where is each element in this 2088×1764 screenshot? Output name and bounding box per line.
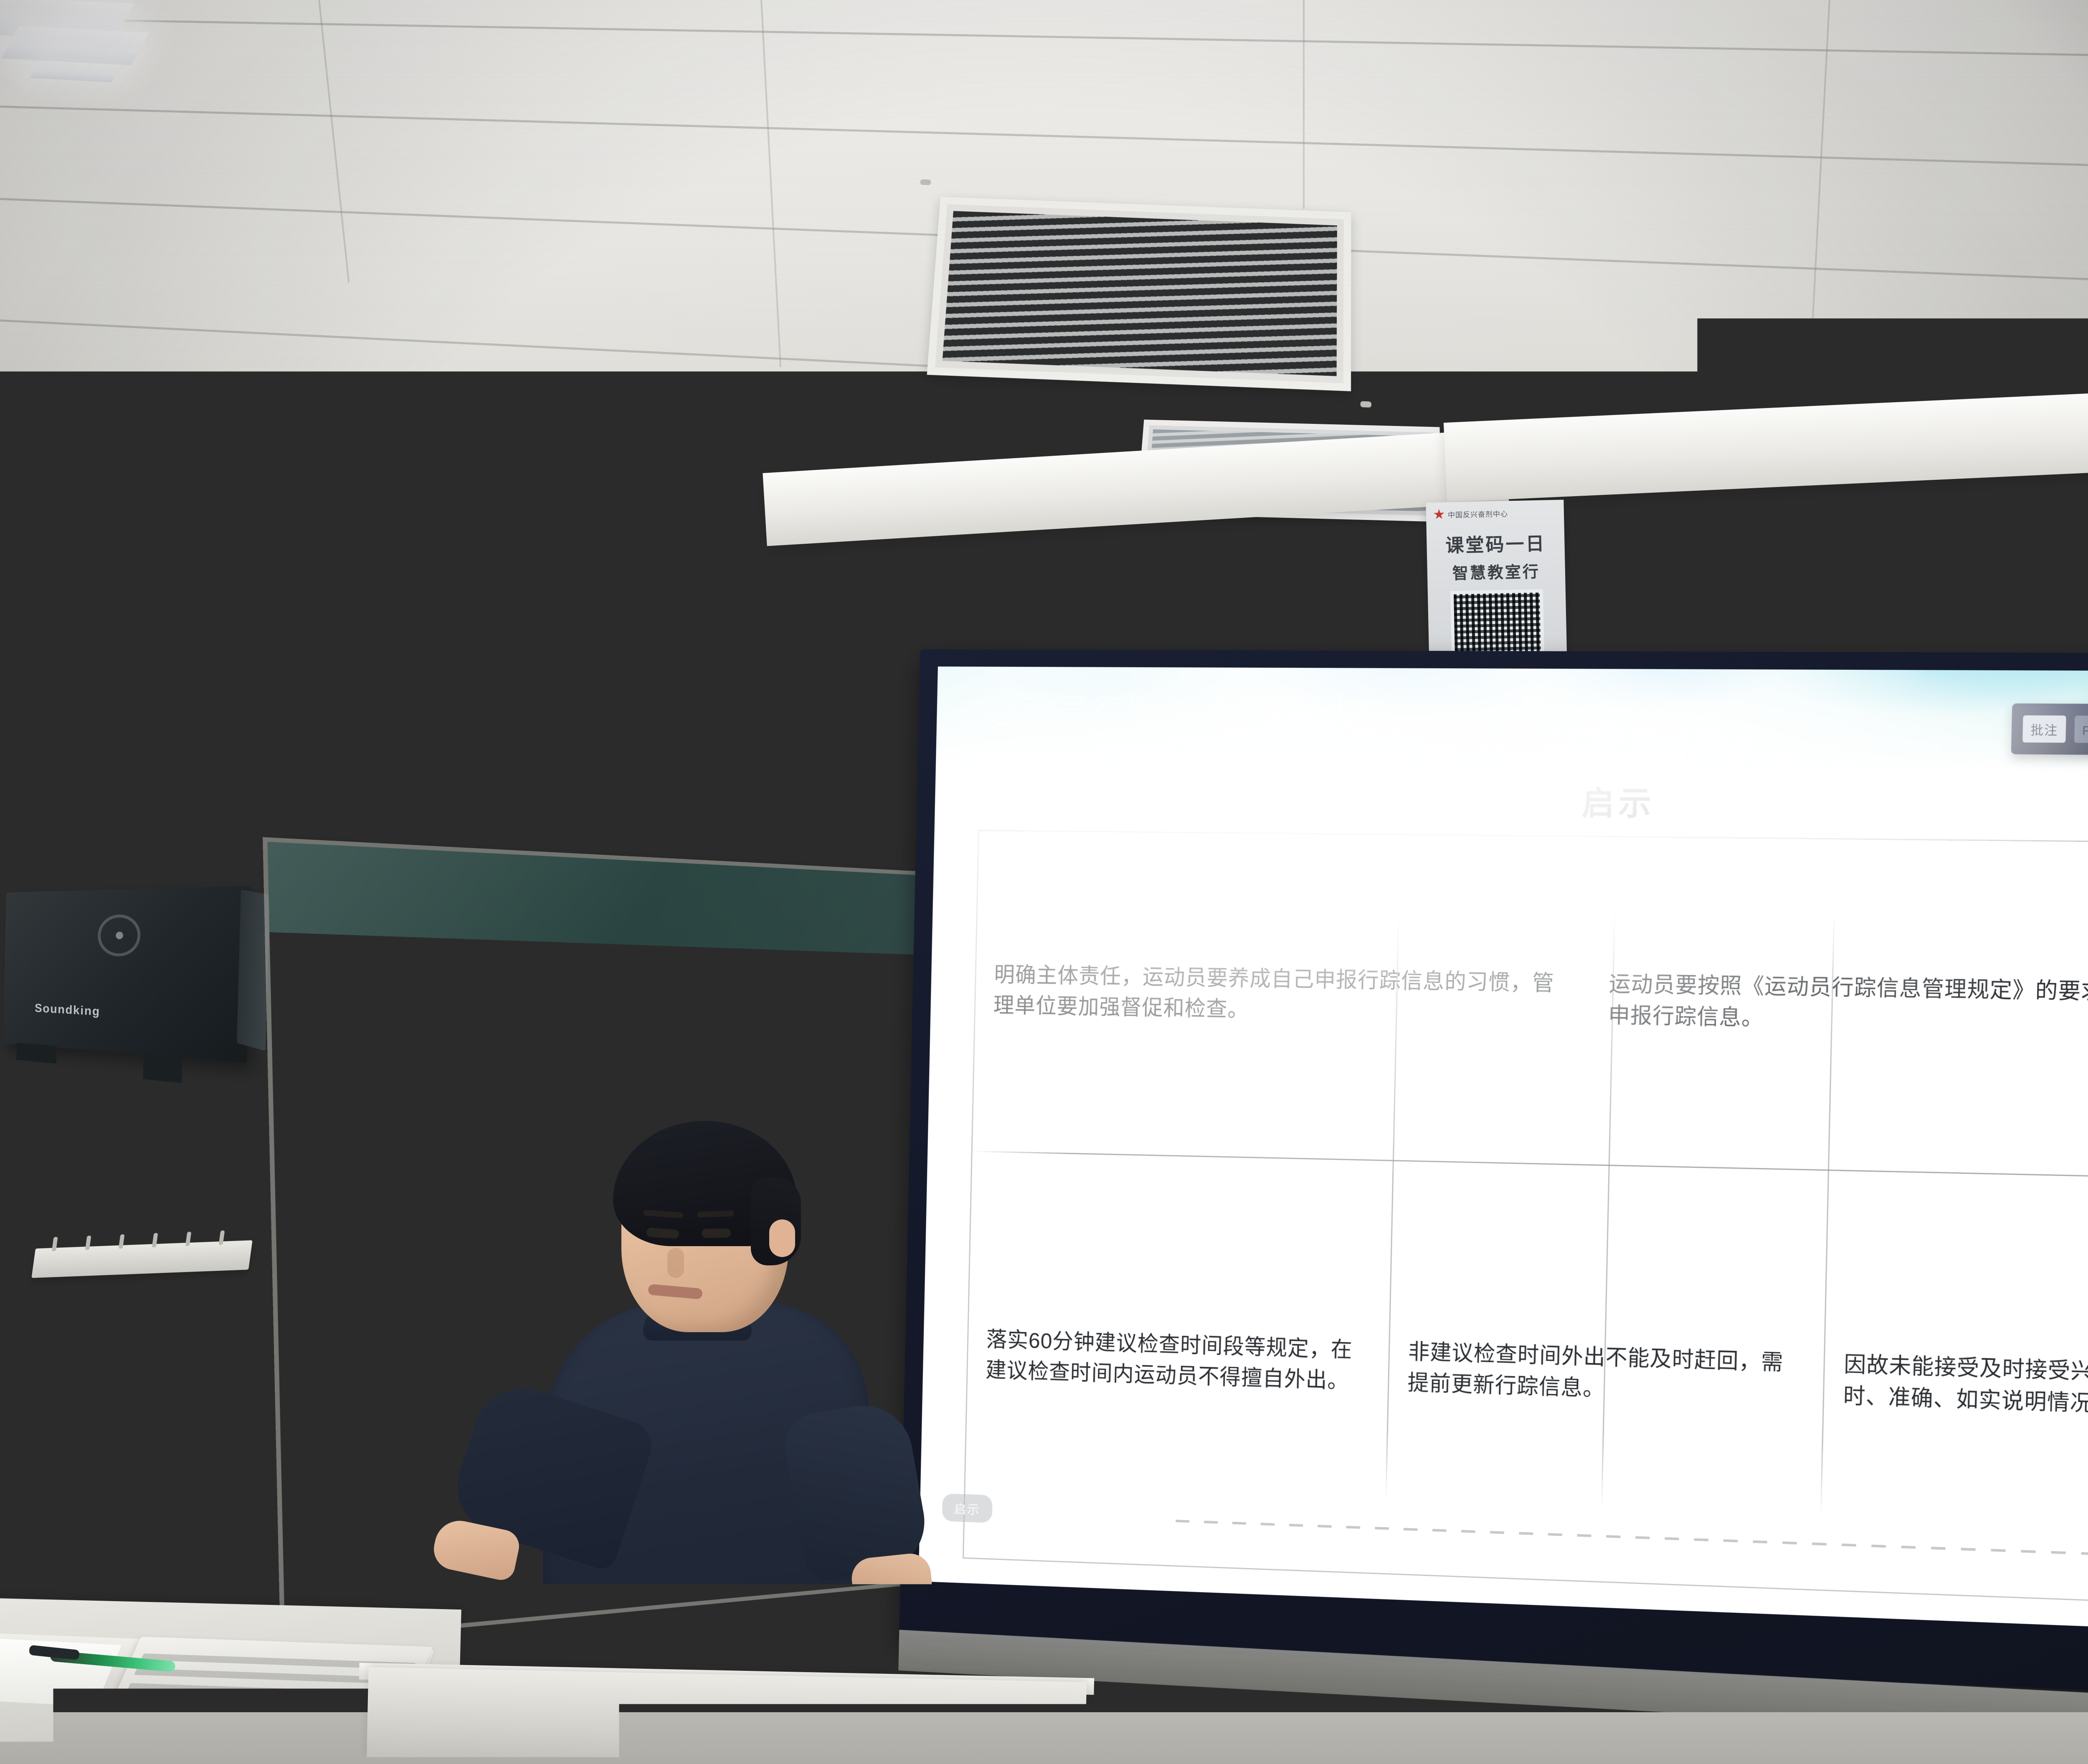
wall-speaker: Soundking [3, 886, 251, 1063]
slide-text-box-1-text: 明确主体责任，运动员要养成自己申报行踪信息的习惯，管理单位要加强督促和检查。 [993, 960, 1569, 1031]
slide-text-box-5-text: 因故未能接受及时接受兴奋剂检查，及时、准确、如实说明情况。 [1843, 1349, 2088, 1425]
poster-org-name: 中国反兴奋剂中心 [1448, 508, 1508, 520]
speaker-mount [143, 1053, 182, 1083]
presenter-nose [667, 1248, 684, 1278]
slide-text-box-4[interactable]: 非建议检查时间外出不能及时赶回，需提前更新行踪信息。 [1384, 1160, 1828, 1591]
slide-title: 启示 [935, 773, 2088, 831]
speaker-brand-label: Soundking [35, 1001, 101, 1019]
bottle-neck [550, 1612, 580, 1650]
slide-section-pill[interactable]: 启示 [942, 1493, 993, 1523]
slide-text-box-2-text: 运动员要按照《运动员行踪信息管理规定》的要求，准确、及时申报行踪信息。 [1608, 969, 2088, 1043]
presentation-slide[interactable]: 运动员行踪信息管理规定 CHINADA 中国反兴奋剂中心 启示 明确主体责任，运… [918, 667, 2088, 1635]
annotation-toolbar[interactable]: 批注 PPT 演示控制 [2011, 703, 2088, 756]
slide-text-box-1[interactable]: 明确主体责任，运动员要养成自己申报行踪信息的习惯，管理单位要加强督促和检查。 [971, 830, 1592, 1164]
bottle-label [544, 1702, 587, 1749]
bottle-label-upper [544, 1681, 587, 1704]
ceiling-light [30, 61, 120, 82]
slide-text-box-3[interactable]: 落实60分钟建议检查时间段等规定，在建议检查时间内运动员不得擅自外出。 [963, 1151, 1393, 1574]
slide-content-grid: 明确主体责任，运动员要养成自己申报行踪信息的习惯，管理单位要加强督促和检查。 运… [963, 830, 2088, 1607]
slide-grid-row-top: 明确主体责任，运动员要养成自己申报行踪信息的习惯，管理单位要加强督促和检查。 运… [971, 830, 2088, 1179]
toolbar-chip-ppt-control[interactable]: PPT 演示控制 [2074, 716, 2088, 744]
speaker-side-panel [237, 890, 270, 1051]
ceiling-air-vent [927, 197, 1351, 391]
classroom-scene: Soundking 请同学们按时提交作业 第三章 反兴奋剂教育 中国反兴奋剂中心… [0, 0, 2088, 1764]
poster-headline-2: 智慧教室行 [1434, 558, 1558, 584]
display-screen[interactable]: 运动员行踪信息管理规定 CHINADA 中国反兴奋剂中心 启示 明确主体责任，运… [918, 667, 2088, 1635]
ceiling-light [1, 26, 149, 66]
interactive-whiteboard[interactable]: 运动员行踪信息管理规定 CHINADA 中国反兴奋剂中心 启示 明确主体责任，运… [899, 649, 2088, 1700]
presenter-eye [702, 1228, 731, 1238]
poster-headline-1: 课堂码一日 [1434, 528, 1557, 558]
slide-text-box-5[interactable]: 因故未能接受及时接受兴奋剂检查，及时、准确、如实说明情况。 [1819, 1169, 2088, 1607]
slide-header-title: 运动员行踪信息管理规定 [984, 684, 1385, 736]
speaker-mount [16, 1043, 57, 1064]
vent-grill [943, 211, 1337, 376]
presenter-ear [769, 1219, 795, 1257]
toolbar-chip-annotate[interactable]: 批注 [2022, 715, 2066, 743]
front-desk [367, 1667, 1087, 1764]
speaker-cone-icon [97, 914, 141, 957]
water-bottle[interactable] [540, 1583, 590, 1758]
slide-text-box-3-text: 落实60分钟建议检查时间段等规定，在建议检查时间内运动员不得擅自外出。 [986, 1324, 1369, 1398]
bottle-cap [550, 1583, 580, 1615]
poster-header: 中国反兴奋剂中心 [1434, 507, 1556, 520]
slide-grid-row-bottom: 落实60分钟建议检查时间段等规定，在建议检查时间内运动员不得擅自外出。 非建议检… [963, 1151, 2088, 1607]
slide-text-box-4-text: 非建议检查时间外出不能及时赶回，需提前更新行踪信息。 [1407, 1336, 1804, 1411]
slide-text-box-2[interactable]: 运动员要按照《运动员行踪信息管理规定》的要求，准确、及时申报行踪信息。 [1585, 836, 2088, 1179]
star-icon [1434, 509, 1445, 520]
